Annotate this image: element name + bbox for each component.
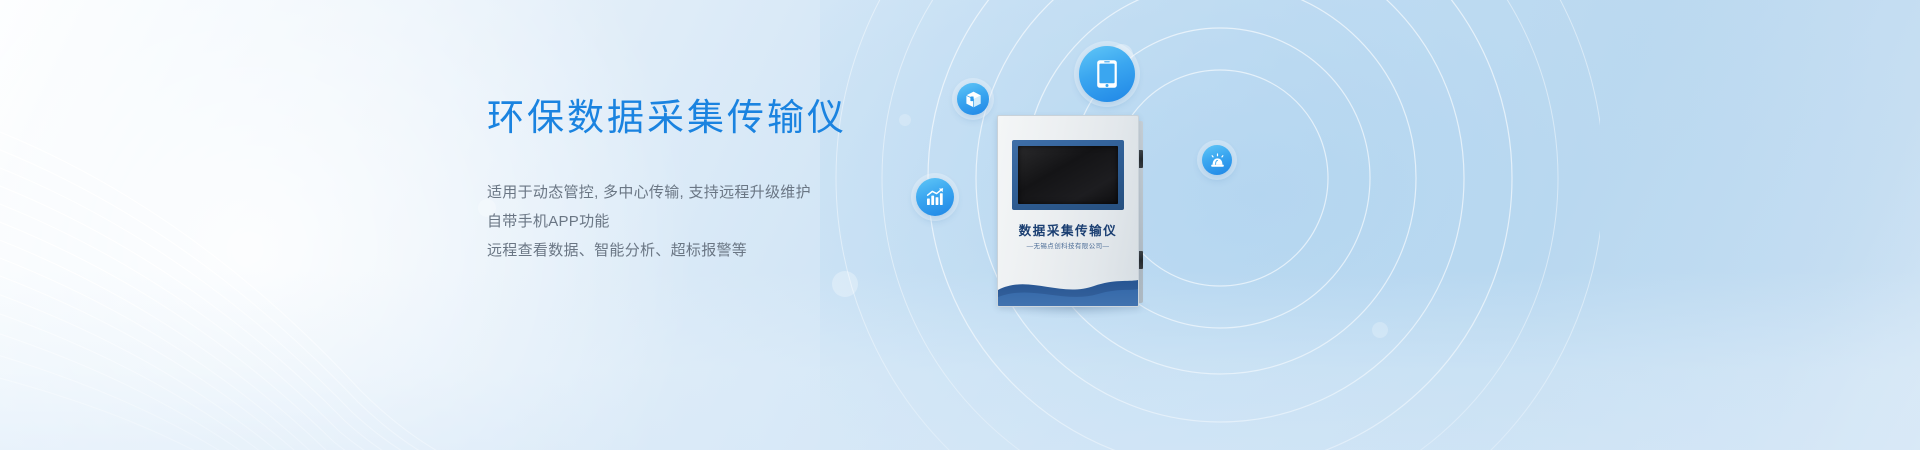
product-hero-banner: 环保数据采集传输仪 适用于动态管控, 多中心传输, 支持远程升级维护 自带手机A…: [0, 0, 1920, 450]
product-device-image: 数据采集传输仪 —无锡点创科技有限公司—: [997, 115, 1143, 310]
device-company-label: —无锡点创科技有限公司—: [998, 240, 1138, 250]
device-brand-label: 数据采集传输仪: [998, 220, 1138, 239]
bar-chart-growth-icon[interactable]: [916, 178, 954, 216]
device-wave-graphic: [998, 264, 1138, 306]
background-bottom-fade: [0, 270, 1920, 450]
bar-chart-growth-glyph: [925, 187, 945, 207]
mobile-phone-glyph: [1096, 59, 1118, 89]
device-display: [1018, 146, 1118, 204]
device-enclosure: 数据采集传输仪 —无锡点创科技有限公司—: [997, 115, 1139, 307]
device-screen-bezel: [1012, 140, 1124, 210]
mobile-phone-icon[interactable]: [1079, 46, 1135, 102]
alarm-siren-glyph: [1209, 152, 1226, 169]
page-title: 环保数据采集传输仪: [487, 96, 1007, 140]
feature-list-item: 远程查看数据、智能分析、超标报警等: [487, 236, 1007, 265]
cube-box-glyph: [965, 91, 982, 108]
alarm-siren-icon[interactable]: [1202, 145, 1232, 175]
cube-box-icon[interactable]: [957, 83, 989, 115]
